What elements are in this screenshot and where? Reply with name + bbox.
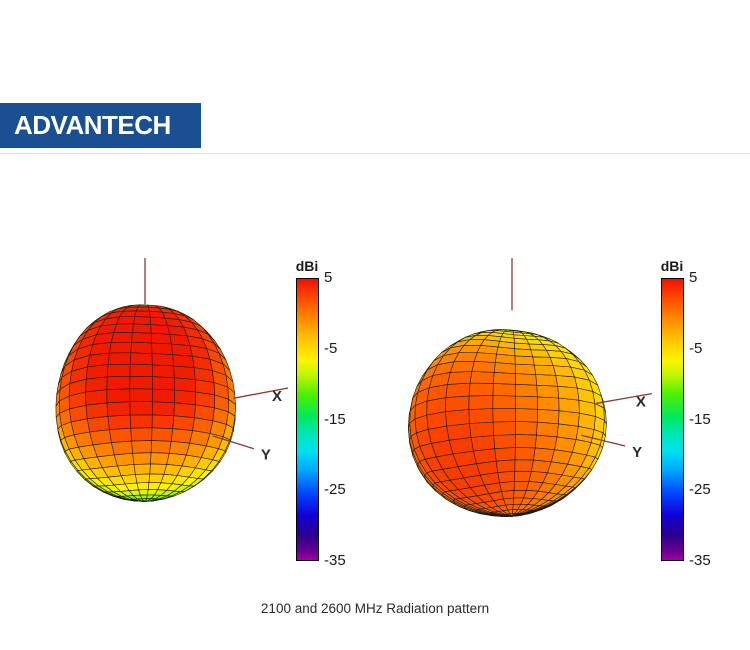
mesh-facet: [472, 361, 496, 372]
mesh-facet: [133, 453, 152, 465]
mesh-facet: [152, 354, 174, 366]
mesh-facet: [493, 409, 516, 423]
pattern-panel-2100mhz: ZXY dBi 5-5-15-25-35: [2, 258, 367, 588]
mesh-facet: [516, 422, 538, 436]
mesh-facet: [469, 383, 493, 396]
mesh-facet: [107, 402, 130, 417]
colorbar-tick-label: 5: [689, 269, 697, 286]
pattern-plot-2100mhz: ZXY: [2, 258, 292, 588]
mesh-facet: [515, 460, 534, 472]
mesh-facet: [137, 483, 149, 490]
mesh-facet: [151, 453, 170, 465]
mesh-facet: [130, 364, 153, 377]
colorbar-tick-label: -25: [689, 481, 711, 498]
mesh-facet: [151, 333, 171, 344]
mesh-facet: [87, 416, 109, 432]
mesh-facet: [494, 363, 515, 374]
mesh-facet: [132, 441, 152, 454]
mesh-facet: [498, 471, 515, 483]
mesh-facet: [114, 324, 134, 333]
mesh-facet: [515, 364, 535, 374]
colorbar-tick-label: -5: [689, 340, 702, 357]
mesh-facet: [559, 398, 580, 413]
logo-wordmark: ADVANTECH: [0, 110, 171, 141]
axis-label-y: Y: [632, 444, 642, 461]
mesh-facet: [131, 428, 152, 441]
pattern-plot-2600mhz: ZXY: [367, 258, 657, 588]
page-root: ADVANTECH ZXY dBi 5-5-15-25-35 ZXY dBi 5…: [0, 0, 750, 650]
mesh-facet: [152, 415, 174, 429]
mesh-facet: [135, 311, 150, 317]
mesh-facet: [494, 435, 516, 449]
mesh-facet: [516, 409, 538, 423]
mesh-facet: [174, 378, 196, 392]
mesh-facet: [136, 307, 149, 311]
mesh-facet: [534, 448, 555, 462]
mesh-facet: [493, 396, 516, 409]
mesh-facet: [108, 415, 131, 430]
mesh-facet: [107, 376, 130, 389]
mesh-facet: [493, 372, 515, 384]
mesh-facet: [130, 376, 153, 389]
mesh-facet: [153, 389, 175, 403]
colorbar-2600mhz: dBi 5-5-15-25-35: [655, 258, 735, 588]
advantech-logo[interactable]: ADVANTECH: [0, 103, 201, 148]
mesh-facet: [151, 441, 171, 454]
radiation-surface-mesh: [56, 305, 236, 502]
mesh-facet: [173, 355, 195, 368]
colorbar-ticks-2600mhz: 5-5-15-25-35: [689, 258, 735, 588]
mesh-facet: [152, 377, 174, 390]
colorbar-tick-label: -25: [324, 481, 346, 498]
mesh-facet: [131, 342, 152, 353]
mesh-facet: [111, 441, 132, 455]
mesh-facet: [535, 435, 557, 450]
mesh-facet: [130, 389, 153, 402]
mesh-facet: [152, 365, 174, 378]
mesh-facet: [469, 396, 493, 410]
mesh-facet: [108, 353, 131, 365]
mesh-facet: [174, 403, 196, 418]
mesh-facet: [171, 429, 192, 444]
mesh-facet: [496, 460, 515, 473]
mesh-facet: [109, 342, 131, 353]
mesh-facet: [493, 383, 516, 396]
mesh-facet: [130, 353, 152, 365]
colorbar-2100mhz: dBi 5-5-15-25-35: [290, 258, 370, 588]
mesh-facet: [558, 386, 579, 400]
mesh-facet: [152, 428, 173, 442]
colorbar-label-2100mhz: dBi: [290, 258, 324, 274]
mesh-facet: [537, 409, 559, 424]
mesh-facet: [471, 436, 495, 452]
mesh-facet: [469, 409, 493, 424]
mesh-facet: [152, 402, 174, 416]
mesh-facet: [111, 332, 132, 342]
mesh-facet: [447, 372, 471, 385]
mesh-facet: [556, 375, 578, 388]
colorbar-label-2600mhz: dBi: [655, 258, 689, 274]
colorbar-gradient-2600mhz: [661, 278, 684, 561]
mesh-facet: [537, 422, 559, 437]
colorbar-tick-label: -35: [689, 552, 711, 569]
mesh-facet: [86, 403, 108, 419]
mesh-facet: [516, 374, 537, 386]
colorbar-ticks-2100mhz: 5-5-15-25-35: [324, 258, 370, 588]
mesh-facet: [559, 411, 580, 427]
mesh-facet: [132, 332, 152, 343]
mesh-facet: [493, 422, 516, 436]
mesh-facet: [134, 317, 151, 325]
axis-label-x: X: [272, 388, 282, 405]
mesh-facet: [516, 384, 538, 397]
mesh-facet: [90, 430, 112, 445]
mesh-facet: [515, 448, 535, 461]
mesh-facet: [130, 402, 153, 415]
mesh-facet: [537, 397, 559, 411]
radiation-surface-mesh: [408, 330, 606, 517]
mesh-facet: [107, 364, 130, 377]
mesh-facet: [515, 356, 534, 365]
mesh-facet: [534, 365, 555, 375]
page-header: ADVANTECH: [0, 0, 750, 154]
colorbar-gradient-2100mhz: [296, 278, 319, 561]
colorbar-tick-label: -15: [324, 411, 346, 428]
mesh-facet: [516, 396, 538, 409]
mesh-facet: [515, 435, 536, 448]
mesh-facet: [109, 428, 131, 443]
mesh-facet: [132, 324, 151, 333]
mesh-facet: [536, 375, 558, 387]
axis-label-y: Y: [261, 447, 271, 464]
mesh-facet: [152, 343, 173, 355]
mesh-facet: [175, 390, 196, 405]
mesh-facet: [135, 474, 150, 483]
mesh-facet: [537, 385, 559, 398]
mesh-facet: [151, 325, 170, 335]
colorbar-tick-label: -15: [689, 411, 711, 428]
mesh-facet: [500, 481, 515, 491]
mesh-facet: [174, 366, 196, 380]
figure-caption: 2100 and 2600 MHz Radiation pattern: [0, 601, 750, 616]
axis-label-x: X: [636, 394, 646, 411]
mesh-facet: [107, 389, 130, 403]
mesh-facet: [446, 383, 470, 398]
mesh-facet: [134, 464, 151, 475]
pattern-panel-2600mhz: ZXY dBi 5-5-15-25-35: [367, 258, 732, 588]
mesh-facet: [446, 410, 470, 427]
colorbar-tick-label: -35: [324, 552, 346, 569]
mesh-facet: [470, 372, 494, 384]
mesh-facet: [446, 396, 470, 412]
mesh-facet: [173, 416, 195, 431]
mesh-facet: [130, 415, 152, 428]
mesh-facet: [515, 471, 532, 481]
colorbar-tick-label: -5: [324, 340, 337, 357]
mesh-facet: [495, 448, 516, 462]
mesh-facet: [469, 422, 493, 438]
colorbar-tick-label: 5: [324, 269, 332, 286]
radiation-pattern-figure: ZXY dBi 5-5-15-25-35 ZXY dBi 5-5-15-25-3…: [0, 154, 750, 650]
